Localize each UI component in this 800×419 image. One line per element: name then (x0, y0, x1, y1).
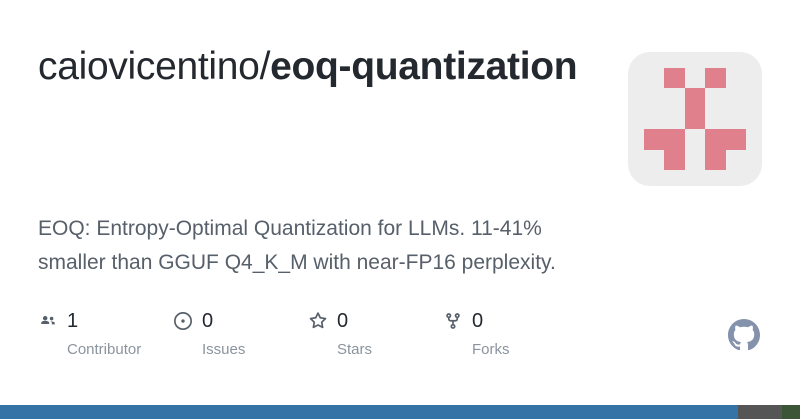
identicon-cell (664, 129, 684, 149)
owner-repo-separator: / (260, 45, 271, 88)
issue-opened-icon (173, 311, 193, 331)
repo-description: EOQ: Entropy-Optimal Quantization for LL… (38, 212, 608, 280)
identicon-cell (644, 68, 664, 88)
identicon-cell (705, 129, 725, 149)
identicon-cell (644, 88, 664, 108)
stat-label: Forks (472, 342, 510, 357)
header-row: caiovicentino/eoq-quantization (38, 44, 762, 186)
identicon-cell (726, 68, 746, 88)
people-icon (38, 311, 58, 331)
stat-value: 0 (202, 311, 213, 331)
stat-stars: 0 Stars (308, 309, 443, 357)
identicon-cell (726, 109, 746, 129)
avatar (628, 52, 762, 186)
identicon-cell (664, 150, 684, 170)
stat-forks: 0 Forks (443, 309, 578, 357)
stats-wrap: 1 Contributor 0 Issues (38, 309, 762, 357)
identicon-cell (705, 150, 725, 170)
stat-issues: 0 Issues (173, 309, 308, 357)
identicon-cell (705, 109, 725, 129)
repo-stats: 1 Contributor 0 Issues (38, 309, 578, 357)
identicon-cell (664, 109, 684, 129)
repo-forked-icon (443, 311, 463, 331)
identicon-cell (685, 88, 705, 108)
language-segment (738, 405, 783, 419)
identicon-cell (664, 88, 684, 108)
stat-value: 0 (337, 311, 348, 331)
language-segment (0, 405, 738, 419)
stat-top: 0 (308, 309, 348, 333)
identicon-cell (644, 129, 664, 149)
identicon-grid (644, 68, 746, 170)
identicon-cell (685, 129, 705, 149)
identicon-cell (644, 109, 664, 129)
identicon-cell (685, 150, 705, 170)
repo-owner-name: caiovicentino (38, 45, 260, 88)
identicon-cell (726, 129, 746, 149)
stat-label: Issues (202, 342, 245, 357)
identicon-cell (705, 68, 725, 88)
stat-top: 1 (38, 309, 78, 333)
language-bar (0, 405, 800, 419)
repo-social-preview-card: caiovicentino/eoq-quantization (0, 0, 800, 419)
stat-top: 0 (443, 309, 483, 333)
identicon-cell (726, 150, 746, 170)
stat-label: Stars (337, 342, 372, 357)
language-segment (782, 405, 800, 419)
identicon-cell (685, 109, 705, 129)
star-icon (308, 311, 328, 331)
card-body: caiovicentino/eoq-quantization (0, 0, 800, 405)
identicon-cell (644, 150, 664, 170)
page-title: caiovicentino/eoq-quantization (38, 44, 577, 89)
stat-value: 1 (67, 311, 78, 331)
stat-value: 0 (472, 311, 483, 331)
identicon-cell (664, 68, 684, 88)
repo-name: eoq-quantization (270, 45, 577, 88)
identicon-cell (705, 88, 725, 108)
stat-contributors: 1 Contributor (38, 309, 173, 357)
stat-label: Contributor (67, 342, 141, 357)
identicon-cell (685, 68, 705, 88)
identicon-cell (726, 88, 746, 108)
github-mark-icon (728, 319, 760, 351)
stat-top: 0 (173, 309, 213, 333)
